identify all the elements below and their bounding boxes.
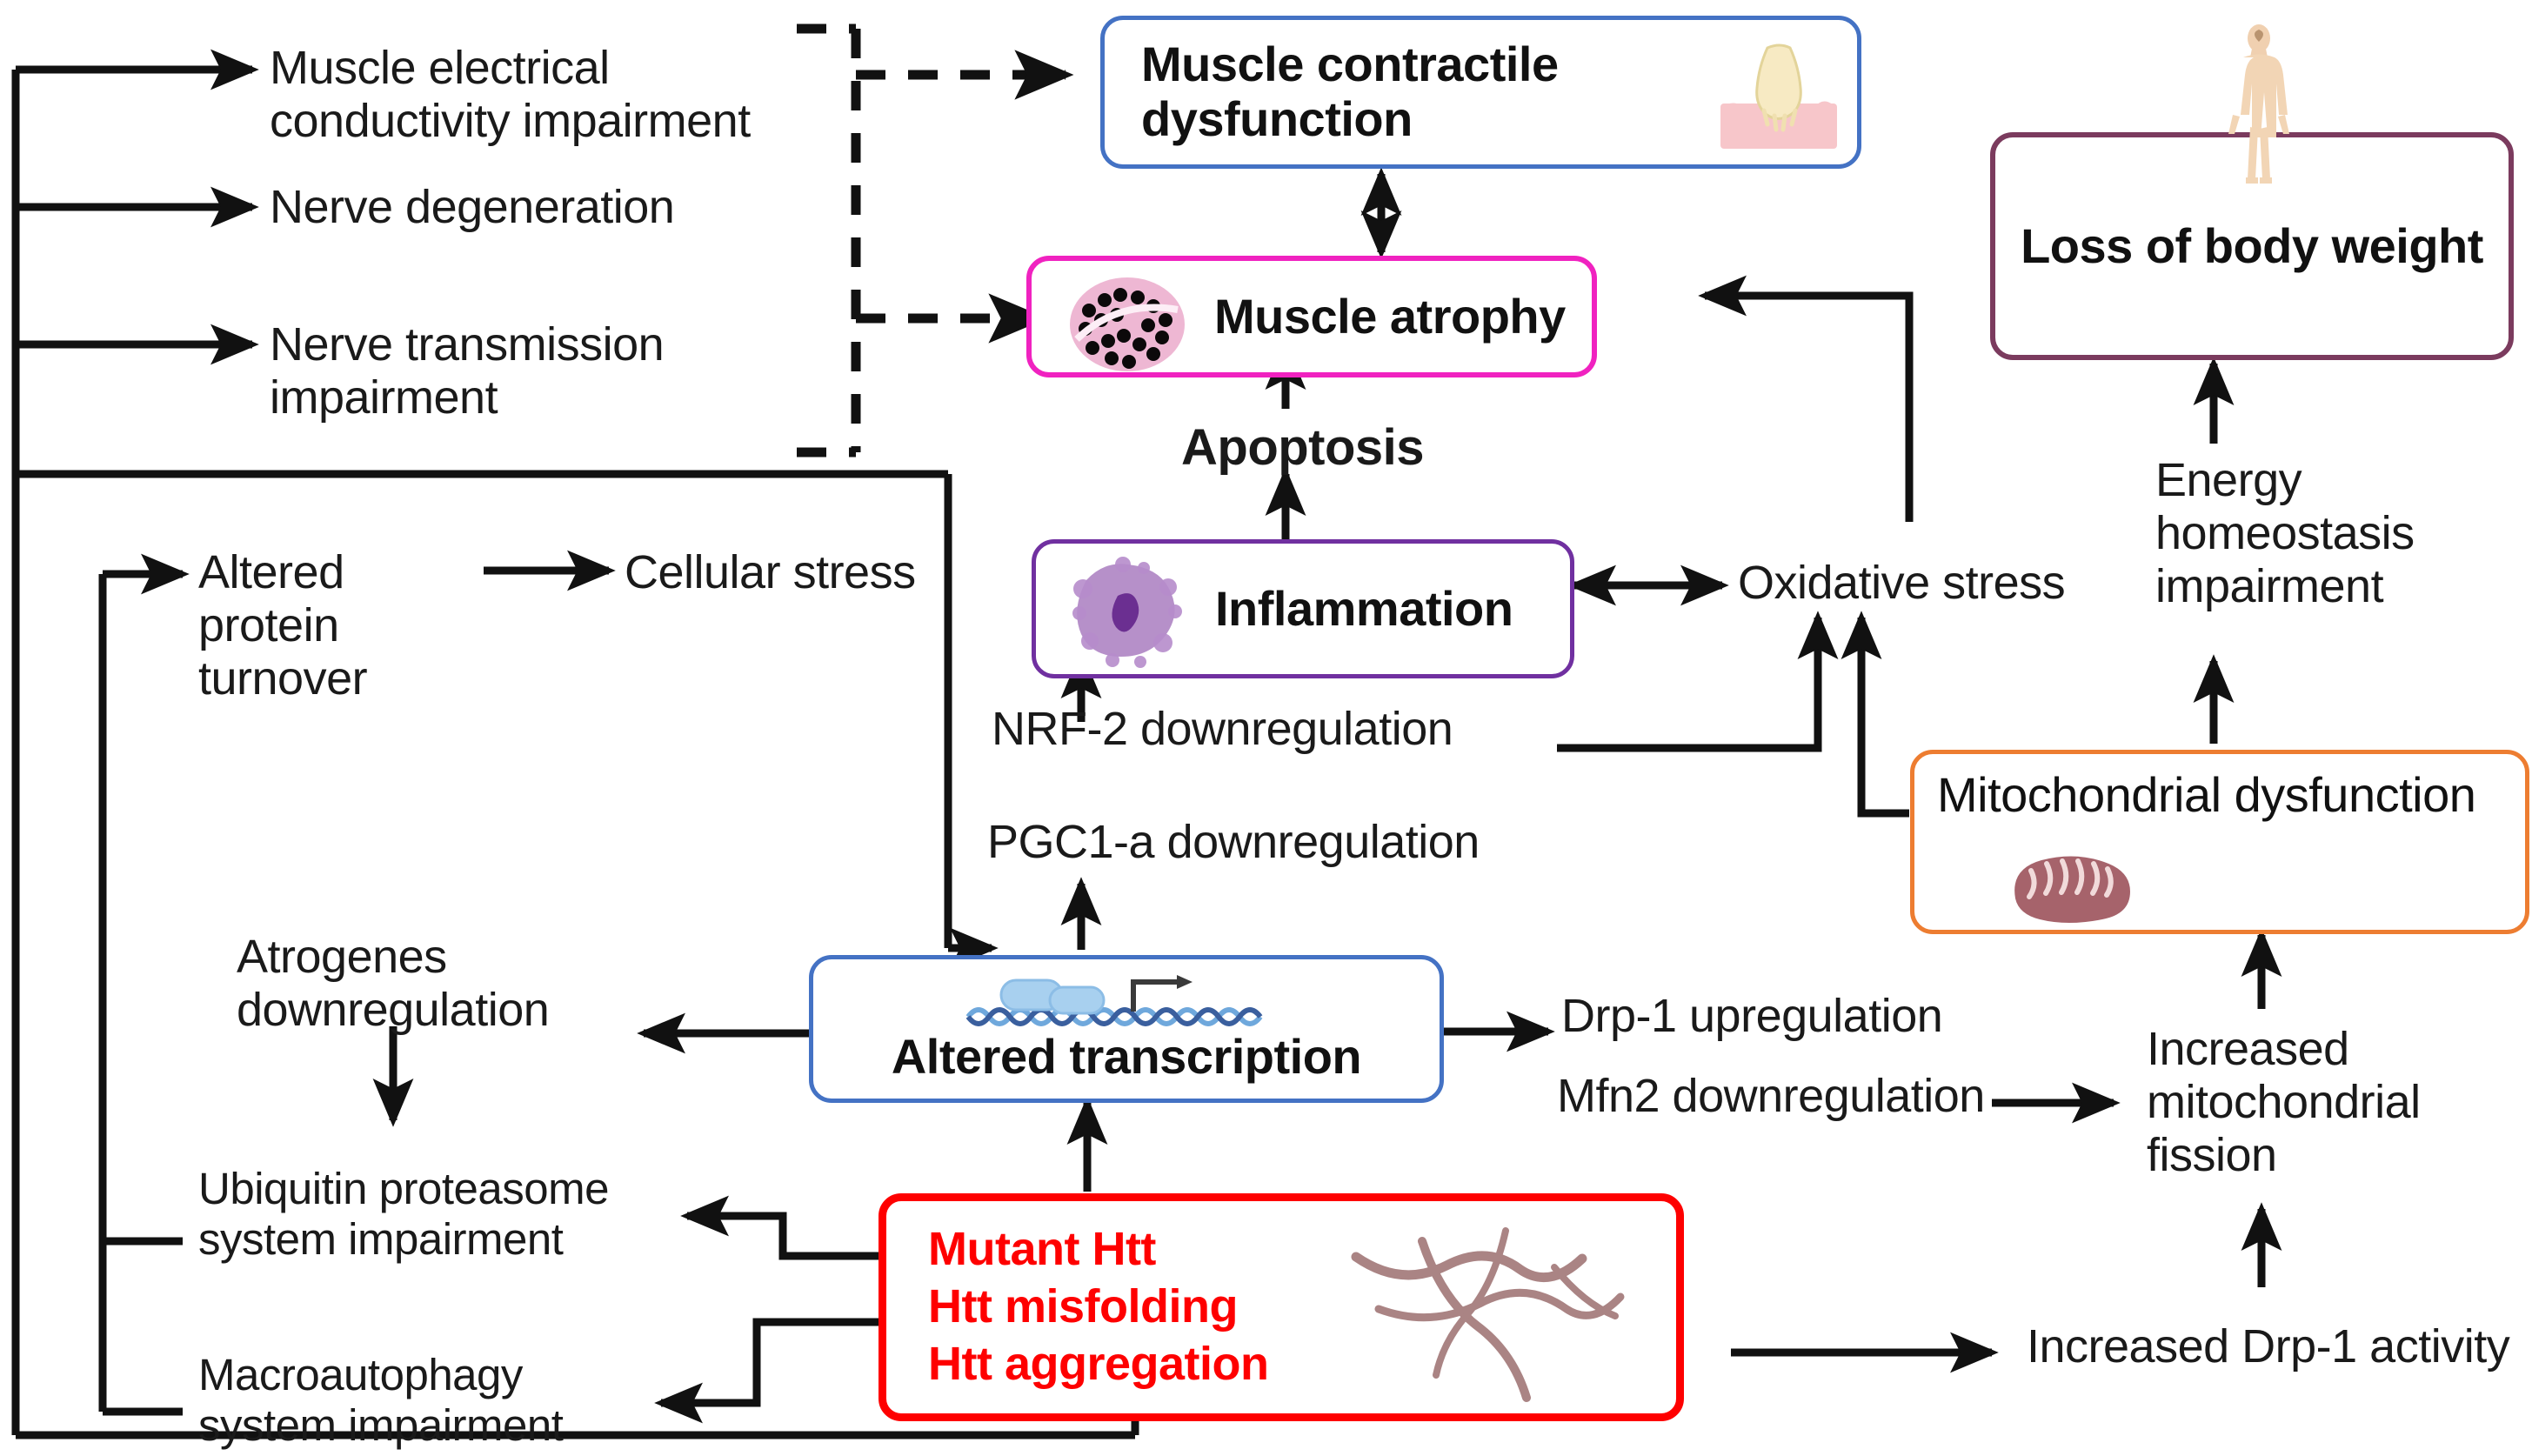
label-muscle-electrical-conductivity-impairment: Muscle electrical conductivity impairmen…: [270, 42, 751, 148]
label-energy-homeostasis-impairment: Energy homeostasis impairment: [2155, 454, 2415, 613]
label-drp1-upregulation: Drp-1 upregulation: [1561, 990, 1942, 1043]
box-muscle-contractile-dysfunction[interactable]: Muscle contractile dysfunction: [1100, 16, 1861, 169]
box-inflammation[interactable]: Inflammation: [1032, 539, 1574, 678]
box-mitochondrial-dysfunction[interactable]: Mitochondrial dysfunction: [1910, 750, 2529, 934]
label-nrf2-downregulation: NRF-2 downregulation: [992, 703, 1453, 756]
box-label-mutant-htt: Mutant Htt Htt misfolding Htt aggregatio…: [928, 1221, 1269, 1393]
box-label-altered-transcription: Altered transcription: [892, 1030, 1361, 1085]
label-nerve-degeneration: Nerve degeneration: [270, 181, 674, 234]
protein-aggregate-icon: [1347, 1226, 1643, 1413]
box-label-loss-of-body-weight: Loss of body weight: [2021, 219, 2483, 274]
mitochondrion-icon: [2005, 850, 2135, 931]
dashed-connectors: [797, 29, 856, 452]
label-mfn2-downregulation: Mfn2 downregulation: [1557, 1070, 1985, 1123]
label-atrogenes-downregulation: Atrogenes downregulation: [237, 931, 549, 1037]
label-apoptosis: Apoptosis: [1181, 419, 1424, 477]
immune-cell-icon: [1060, 554, 1191, 677]
dna-transcription-icon: [959, 972, 1307, 1037]
diagram-canvas: Muscle electrical conductivity impairmen…: [0, 0, 2532, 1456]
box-label-inflammation: Inflammation: [1215, 582, 1513, 637]
label-increased-drp1-activity: Increased Drp-1 activity: [2027, 1320, 2509, 1373]
label-oxidative-stress: Oxidative stress: [1738, 557, 2065, 610]
label-pgc1a-downregulation: PGC1-a downregulation: [987, 816, 1480, 869]
box-mutant-htt[interactable]: Mutant Htt Htt misfolding Htt aggregatio…: [879, 1193, 1684, 1421]
label-ubiquitin-proteasome-system-impairment: Ubiquitin proteasome system impairment: [198, 1164, 609, 1264]
box-muscle-atrophy[interactable]: Muscle atrophy: [1026, 256, 1597, 377]
muscle-cross-section-icon: [1058, 271, 1197, 382]
neuromuscular-junction-icon: [1714, 41, 1844, 158]
human-body-icon: [2217, 24, 2301, 194]
box-altered-transcription[interactable]: Altered transcription: [809, 955, 1444, 1103]
label-macroautophagy-system-impairment: Macroautophagy system impairment: [198, 1350, 563, 1450]
label-altered-protein-turnover: Altered protein turnover: [198, 546, 367, 705]
label-cellular-stress: Cellular stress: [625, 546, 916, 599]
box-label-muscle-contractile-dysfunction: Muscle contractile dysfunction: [1141, 37, 1559, 146]
label-nerve-transmission-impairment: Nerve transmission impairment: [270, 318, 664, 424]
box-label-muscle-atrophy: Muscle atrophy: [1214, 290, 1566, 344]
label-increased-mitochondrial-fission: Increased mitochondrial fission: [2147, 1023, 2421, 1182]
box-label-mitochondrial-dysfunction: Mitochondrial dysfunction: [1937, 768, 2475, 823]
box-loss-of-body-weight[interactable]: Loss of body weight: [1990, 132, 2514, 360]
